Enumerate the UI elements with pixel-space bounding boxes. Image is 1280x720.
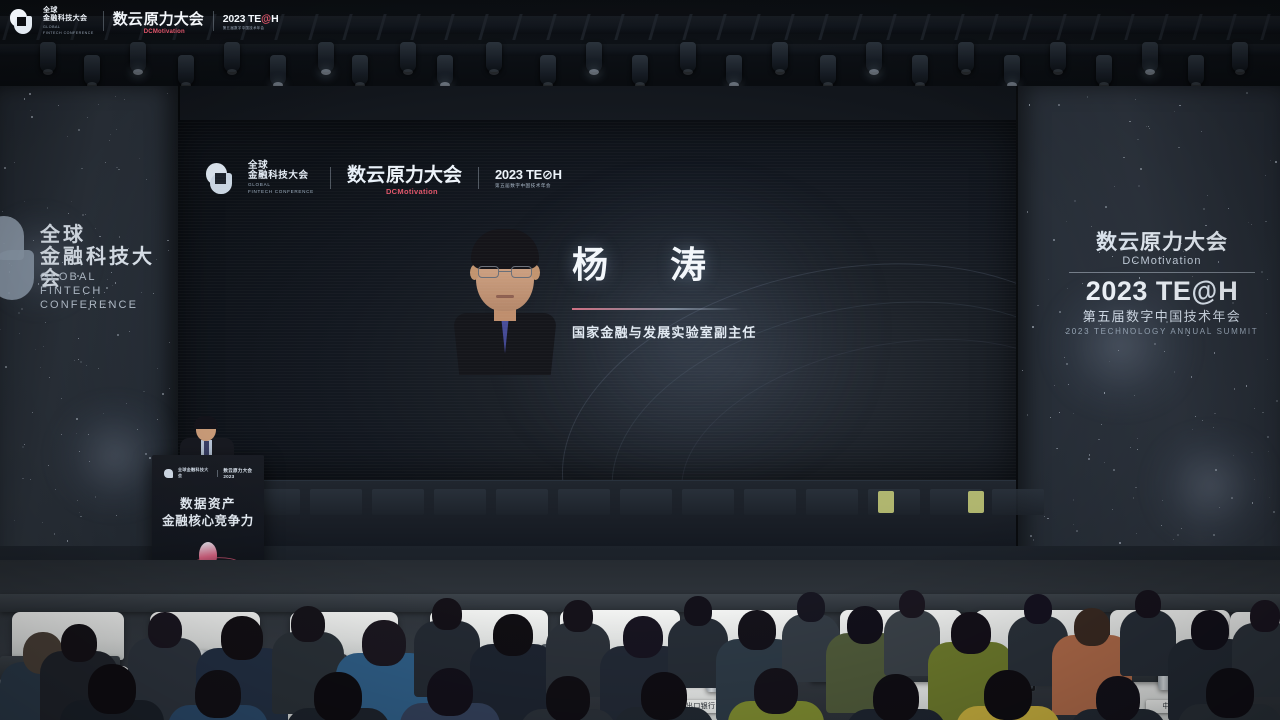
right-wall-sign-subtitle-cn: 第五届数字中国技术年会 bbox=[1062, 306, 1262, 325]
left-wall-sign-en: GLOBAL FINTECH CONFERENCE bbox=[40, 270, 170, 312]
star-speck bbox=[78, 129, 80, 131]
audience-member-head bbox=[1191, 610, 1229, 650]
audience-member bbox=[1178, 668, 1280, 720]
apron-slat bbox=[558, 489, 610, 515]
speaker-name-block: 杨 涛 国家金融与发展实验室副主任 bbox=[572, 236, 872, 341]
star-speck bbox=[1179, 105, 1181, 107]
star-speck bbox=[1161, 525, 1162, 526]
audience-member-head bbox=[738, 610, 776, 650]
star-speck bbox=[145, 453, 146, 454]
star-speck bbox=[1073, 524, 1074, 525]
stage-spotlight bbox=[586, 42, 602, 72]
glasses-icon bbox=[478, 266, 499, 278]
audience-member-head bbox=[1024, 594, 1052, 624]
watermark-dcm-text: 数云 原力大会 DCMotivation bbox=[113, 8, 204, 35]
star-speck bbox=[98, 368, 99, 369]
star-speck bbox=[1088, 458, 1089, 459]
star-speck bbox=[1076, 530, 1078, 532]
star-speck bbox=[86, 365, 87, 366]
right-wall-sign: 数云原力大会 DCMotivation 2023 TE@H 第五届数字中国技术年… bbox=[1062, 232, 1262, 336]
star-speck bbox=[1066, 221, 1067, 222]
star-speck bbox=[58, 105, 59, 106]
audience-member-head bbox=[951, 612, 991, 654]
stage-spotlight bbox=[1142, 42, 1158, 72]
watermark-fintech-text: 全球 金融科技大会 GLOBAL FINTECH CONFERENCE bbox=[43, 7, 94, 36]
stage-spotlight bbox=[820, 55, 836, 85]
audience-member-head bbox=[221, 616, 263, 660]
stage-spotlight bbox=[540, 55, 556, 85]
audience-member-head bbox=[1250, 600, 1280, 632]
apron-slat bbox=[620, 489, 672, 515]
star-speck bbox=[1270, 160, 1271, 161]
star-speck bbox=[30, 110, 31, 111]
star-speck bbox=[1037, 305, 1039, 307]
stage-spotlight bbox=[178, 55, 194, 85]
podium-title-line2: 金融核心竞争力 bbox=[152, 510, 264, 529]
star-speck bbox=[5, 366, 7, 368]
star-speck bbox=[1148, 126, 1149, 127]
star-speck bbox=[78, 338, 79, 339]
audience-member-head bbox=[427, 668, 473, 716]
right-wall-sign-subtitle-en: 2023 TECHNOLOGY ANNUAL SUMMIT bbox=[1062, 327, 1262, 336]
podium-logo: 全球金融科技大会 数云原力大会 2023 bbox=[164, 467, 264, 479]
star-speck bbox=[1119, 542, 1121, 544]
star-speck bbox=[1118, 350, 1119, 351]
star-speck bbox=[1033, 539, 1035, 541]
star-speck bbox=[47, 207, 49, 209]
divider bbox=[103, 11, 104, 31]
apron-slat bbox=[744, 489, 796, 515]
star-speck bbox=[49, 377, 50, 378]
star-speck bbox=[1135, 99, 1136, 100]
audience-member-head bbox=[984, 670, 1032, 720]
left-wall-sign: 全球 金融科技大会 GLOBAL FINTECH CONFERENCE bbox=[0, 222, 170, 314]
stage-spotlight bbox=[437, 55, 453, 85]
star-speck bbox=[1054, 385, 1055, 386]
audience-member bbox=[400, 668, 500, 720]
audience-member-head bbox=[873, 674, 919, 720]
stage-spotlight bbox=[130, 42, 146, 72]
star-speck bbox=[1262, 412, 1264, 414]
star-speck bbox=[1136, 533, 1137, 534]
star-speck bbox=[1246, 92, 1248, 94]
audience-member-head bbox=[563, 600, 593, 632]
audience-member-head bbox=[362, 620, 406, 666]
stage-spotlight bbox=[1096, 55, 1112, 85]
screen-logo-dcm: 数云 原力大会 DCMotivation bbox=[347, 160, 462, 196]
stage-spotlight bbox=[1232, 42, 1248, 72]
fintech-conference-logo-icon bbox=[206, 163, 236, 193]
speaker-title: 国家金融与发展实验室副主任 bbox=[572, 322, 872, 341]
divider bbox=[572, 308, 742, 310]
star-speck bbox=[1203, 208, 1205, 210]
audience-member bbox=[846, 674, 946, 720]
star-speck bbox=[1027, 414, 1029, 416]
divider bbox=[217, 470, 218, 477]
speaker-portrait bbox=[450, 225, 560, 375]
watermark-year-text: 2023 TE@H 第五届数字中国技术年会 bbox=[223, 13, 279, 30]
apron-slat bbox=[434, 489, 486, 515]
stage-spotlight bbox=[318, 42, 334, 72]
star-speck bbox=[118, 169, 119, 170]
apron-slat bbox=[310, 489, 362, 515]
screen-logo-year: 2023 TE⊘H 第五届数字中国技术年会 bbox=[495, 167, 562, 189]
star-speck bbox=[1201, 131, 1202, 132]
star-speck bbox=[24, 98, 26, 100]
star-speck bbox=[1059, 412, 1060, 413]
audience-member bbox=[956, 670, 1060, 720]
conference-stage-photo: 全球 金融科技大会 GLOBAL FINTECH CONFERENCE 数云原力… bbox=[0, 0, 1280, 720]
star-speck bbox=[157, 419, 158, 420]
led-main-screen: 全球 金融科技大会 GLOBAL FINTECH CONFERENCE 数云 原… bbox=[178, 120, 1016, 480]
audience-member-head bbox=[1135, 590, 1161, 618]
star-speck bbox=[129, 331, 130, 332]
stage-spotlight bbox=[1004, 55, 1020, 85]
star-speck bbox=[1137, 449, 1138, 450]
apron-accent-light bbox=[968, 491, 984, 513]
divider bbox=[330, 167, 331, 189]
audience-member bbox=[1070, 676, 1166, 720]
audience-member-head bbox=[493, 614, 533, 656]
audience-member-head bbox=[754, 668, 798, 714]
apron-slat bbox=[496, 489, 548, 515]
divider bbox=[213, 11, 214, 31]
audience-member-head bbox=[1074, 608, 1110, 646]
star-speck bbox=[1030, 535, 1032, 537]
star-speck bbox=[1254, 479, 1255, 480]
stage-spotlight bbox=[40, 42, 56, 72]
screen-logo-fintech-text: 全球 金融科技大会 GLOBAL FINTECH CONFERENCE bbox=[248, 161, 314, 195]
speaker-name: 杨 涛 bbox=[572, 236, 872, 288]
star-speck bbox=[1254, 408, 1255, 409]
star-speck bbox=[1219, 507, 1220, 508]
audience-member-head bbox=[61, 624, 97, 662]
audience-member bbox=[614, 672, 714, 720]
stage-spotlight bbox=[958, 42, 974, 72]
right-wall-sign-year: 2023 TE@H bbox=[1062, 277, 1262, 305]
star-speck bbox=[67, 540, 69, 542]
star-speck bbox=[1252, 502, 1253, 503]
apron-slat bbox=[806, 489, 858, 515]
audience-member bbox=[60, 664, 164, 720]
audience-member-head bbox=[1206, 668, 1254, 718]
stage-spotlight bbox=[912, 55, 928, 85]
star-speck bbox=[1251, 224, 1252, 225]
divider bbox=[1069, 272, 1255, 273]
star-speck bbox=[1073, 499, 1075, 501]
star-speck bbox=[14, 520, 15, 521]
star-speck bbox=[1133, 497, 1134, 498]
audience-area: 中国民生银行进出口银行中信银行 bbox=[0, 560, 1280, 720]
audience-member-head bbox=[88, 664, 136, 714]
star-speck bbox=[1053, 239, 1055, 241]
audience-member-head bbox=[623, 616, 663, 658]
star-speck bbox=[1177, 534, 1179, 536]
star-speck bbox=[1104, 462, 1105, 463]
stage-spotlight bbox=[486, 42, 502, 72]
star-speck bbox=[1202, 420, 1203, 421]
star-speck bbox=[45, 322, 46, 323]
fintech-conference-logo-icon bbox=[164, 469, 173, 478]
stage-apron bbox=[178, 480, 1016, 546]
audience-member-head bbox=[847, 606, 883, 644]
star-speck bbox=[169, 342, 170, 343]
stage-spotlight bbox=[1188, 55, 1204, 85]
star-speck bbox=[1231, 497, 1233, 499]
glasses-icon bbox=[511, 266, 532, 278]
audience-member-head bbox=[432, 598, 462, 630]
star-speck bbox=[116, 515, 117, 516]
star-speck bbox=[1138, 185, 1140, 187]
star-speck bbox=[149, 457, 151, 459]
star-speck bbox=[1248, 222, 1249, 223]
star-speck bbox=[1215, 469, 1217, 471]
star-speck bbox=[1228, 208, 1229, 209]
audience-member-head bbox=[684, 596, 712, 626]
star-speck bbox=[109, 140, 110, 141]
star-speck bbox=[1064, 357, 1065, 358]
audience-member-head bbox=[641, 672, 687, 720]
star-speck bbox=[61, 398, 62, 399]
star-speck bbox=[1048, 279, 1049, 280]
star-speck bbox=[1050, 417, 1051, 418]
stage-spotlight bbox=[270, 55, 286, 85]
audience-member-head bbox=[195, 670, 241, 718]
stage-spotlight bbox=[632, 55, 648, 85]
apron-slat bbox=[682, 489, 734, 515]
divider bbox=[478, 167, 479, 189]
star-speck bbox=[1058, 104, 1060, 106]
apron-accent-light bbox=[878, 491, 894, 513]
right-wall-sign-en: DCMotivation bbox=[1062, 255, 1262, 267]
stage-spotlight bbox=[726, 55, 742, 85]
star-speck bbox=[1129, 121, 1131, 123]
audience-member-head bbox=[797, 592, 825, 622]
stage-spotlight bbox=[680, 42, 696, 72]
broadcast-watermark: 全球 金融科技大会 GLOBAL FINTECH CONFERENCE 数云 原… bbox=[10, 5, 279, 37]
screen-logo-lockup: 全球 金融科技大会 GLOBAL FINTECH CONFERENCE 数云 原… bbox=[206, 160, 562, 196]
star-speck bbox=[124, 99, 125, 100]
star-speck bbox=[1207, 195, 1208, 196]
at-glyph-icon: @ bbox=[1189, 275, 1221, 308]
star-speck bbox=[1265, 175, 1266, 176]
star-speck bbox=[1032, 326, 1034, 328]
stage-spotlight bbox=[84, 55, 100, 85]
star-speck bbox=[1044, 516, 1045, 517]
audience-member bbox=[168, 670, 268, 720]
stage-spotlight bbox=[866, 42, 882, 72]
audience-member-head bbox=[546, 676, 590, 720]
star-speck bbox=[1192, 429, 1193, 430]
star-speck bbox=[1056, 448, 1057, 449]
audience-member-head bbox=[148, 612, 182, 648]
fintech-conference-logo-icon bbox=[0, 216, 40, 302]
star-speck bbox=[4, 167, 6, 169]
audience-member-head bbox=[314, 672, 362, 720]
nebula-texture bbox=[1136, 426, 1280, 546]
star-speck bbox=[78, 359, 79, 360]
stage-spotlight bbox=[224, 42, 240, 72]
right-wall-panel bbox=[1016, 86, 1280, 586]
star-speck bbox=[76, 418, 78, 420]
audience-member bbox=[286, 672, 390, 720]
star-speck bbox=[98, 104, 99, 105]
stage-spotlight bbox=[1050, 42, 1066, 72]
audience-member bbox=[520, 676, 616, 720]
audience-member-head bbox=[1096, 676, 1140, 720]
star-speck bbox=[143, 391, 144, 392]
right-wall-sign-title: 数云原力大会 bbox=[1062, 232, 1262, 254]
audience-member bbox=[728, 668, 824, 720]
star-speck bbox=[162, 393, 164, 395]
star-speck bbox=[1112, 509, 1113, 510]
apron-slat bbox=[868, 489, 920, 515]
star-speck bbox=[1214, 413, 1216, 415]
star-speck bbox=[1205, 225, 1207, 227]
star-speck bbox=[1073, 413, 1074, 414]
star-speck bbox=[82, 214, 84, 216]
apron-slat bbox=[372, 489, 424, 515]
star-speck bbox=[1268, 451, 1269, 452]
star-speck bbox=[1074, 200, 1076, 202]
fintech-conference-logo-icon bbox=[10, 9, 34, 34]
star-speck bbox=[115, 96, 116, 97]
star-speck bbox=[1113, 469, 1115, 471]
audience-member-head bbox=[291, 606, 325, 642]
apron-slat bbox=[992, 489, 1044, 515]
star-speck bbox=[1267, 436, 1269, 438]
stage-spotlight bbox=[352, 55, 368, 85]
stage-spotlight bbox=[400, 42, 416, 72]
star-speck bbox=[1105, 206, 1107, 208]
stage-spotlight bbox=[772, 42, 788, 72]
audience-member-head bbox=[899, 590, 925, 618]
